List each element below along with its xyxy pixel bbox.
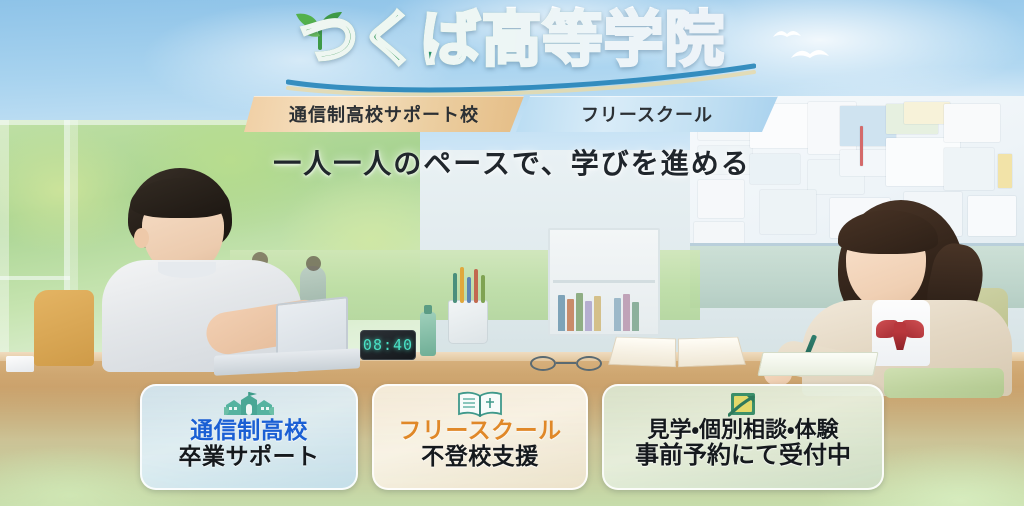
- clock-display: 08:40: [363, 336, 413, 354]
- card-line-1: フリースクール: [398, 418, 561, 444]
- card-line-1: 見学・個別相談・体験: [648, 418, 839, 443]
- water-bottle: [420, 312, 436, 356]
- digital-clock: 08:40: [360, 330, 416, 360]
- card-line-2: 不登校支援: [421, 444, 539, 470]
- feature-card-correspondence[interactable]: 通信制高校 卒業サポート: [140, 384, 358, 490]
- card-line-2: 事前予約にて受付中: [635, 443, 851, 470]
- school-building-icon: [224, 390, 274, 418]
- category-ribbons: 通信制高校サポート校 フリースクール: [0, 96, 1024, 132]
- chair: [34, 290, 94, 366]
- bookshelf: [548, 228, 660, 336]
- logo-row: つくば高等学院: [0, 8, 1024, 73]
- brand-title: つくば高等学院: [299, 8, 726, 73]
- open-book-icon: [457, 390, 503, 418]
- pencil-holder: [448, 300, 488, 344]
- eyeglasses: [530, 356, 602, 372]
- open-book: [608, 338, 746, 366]
- notebook: [757, 352, 878, 376]
- card-line-2: 卒業サポート: [179, 444, 320, 470]
- feature-card-freeschool[interactable]: フリースクール 不登校支援: [372, 384, 588, 490]
- card-line-1: 通信制高校: [190, 418, 308, 444]
- arrow-chart-icon: [728, 390, 758, 418]
- tagline: 一人一人のペースで、学びを進める: [0, 142, 1024, 182]
- feature-card-visit[interactable]: 見学・個別相談・体験 事前予約にて受付中: [602, 384, 884, 490]
- school-promo-banner: 08:40 つくば高等学院: [0, 0, 1024, 506]
- ribbon-tie: [876, 318, 924, 350]
- ear: [134, 228, 149, 248]
- ribbon-free-school[interactable]: フリースクール: [516, 96, 778, 132]
- feature-cards: 通信制高校 卒業サポート フリースクール 不登校支援: [140, 384, 898, 490]
- window-frame: [0, 276, 70, 280]
- eraser: [6, 356, 34, 372]
- collar: [158, 262, 216, 278]
- ribbon-correspondence-support[interactable]: 通信制高校サポート校: [244, 96, 524, 132]
